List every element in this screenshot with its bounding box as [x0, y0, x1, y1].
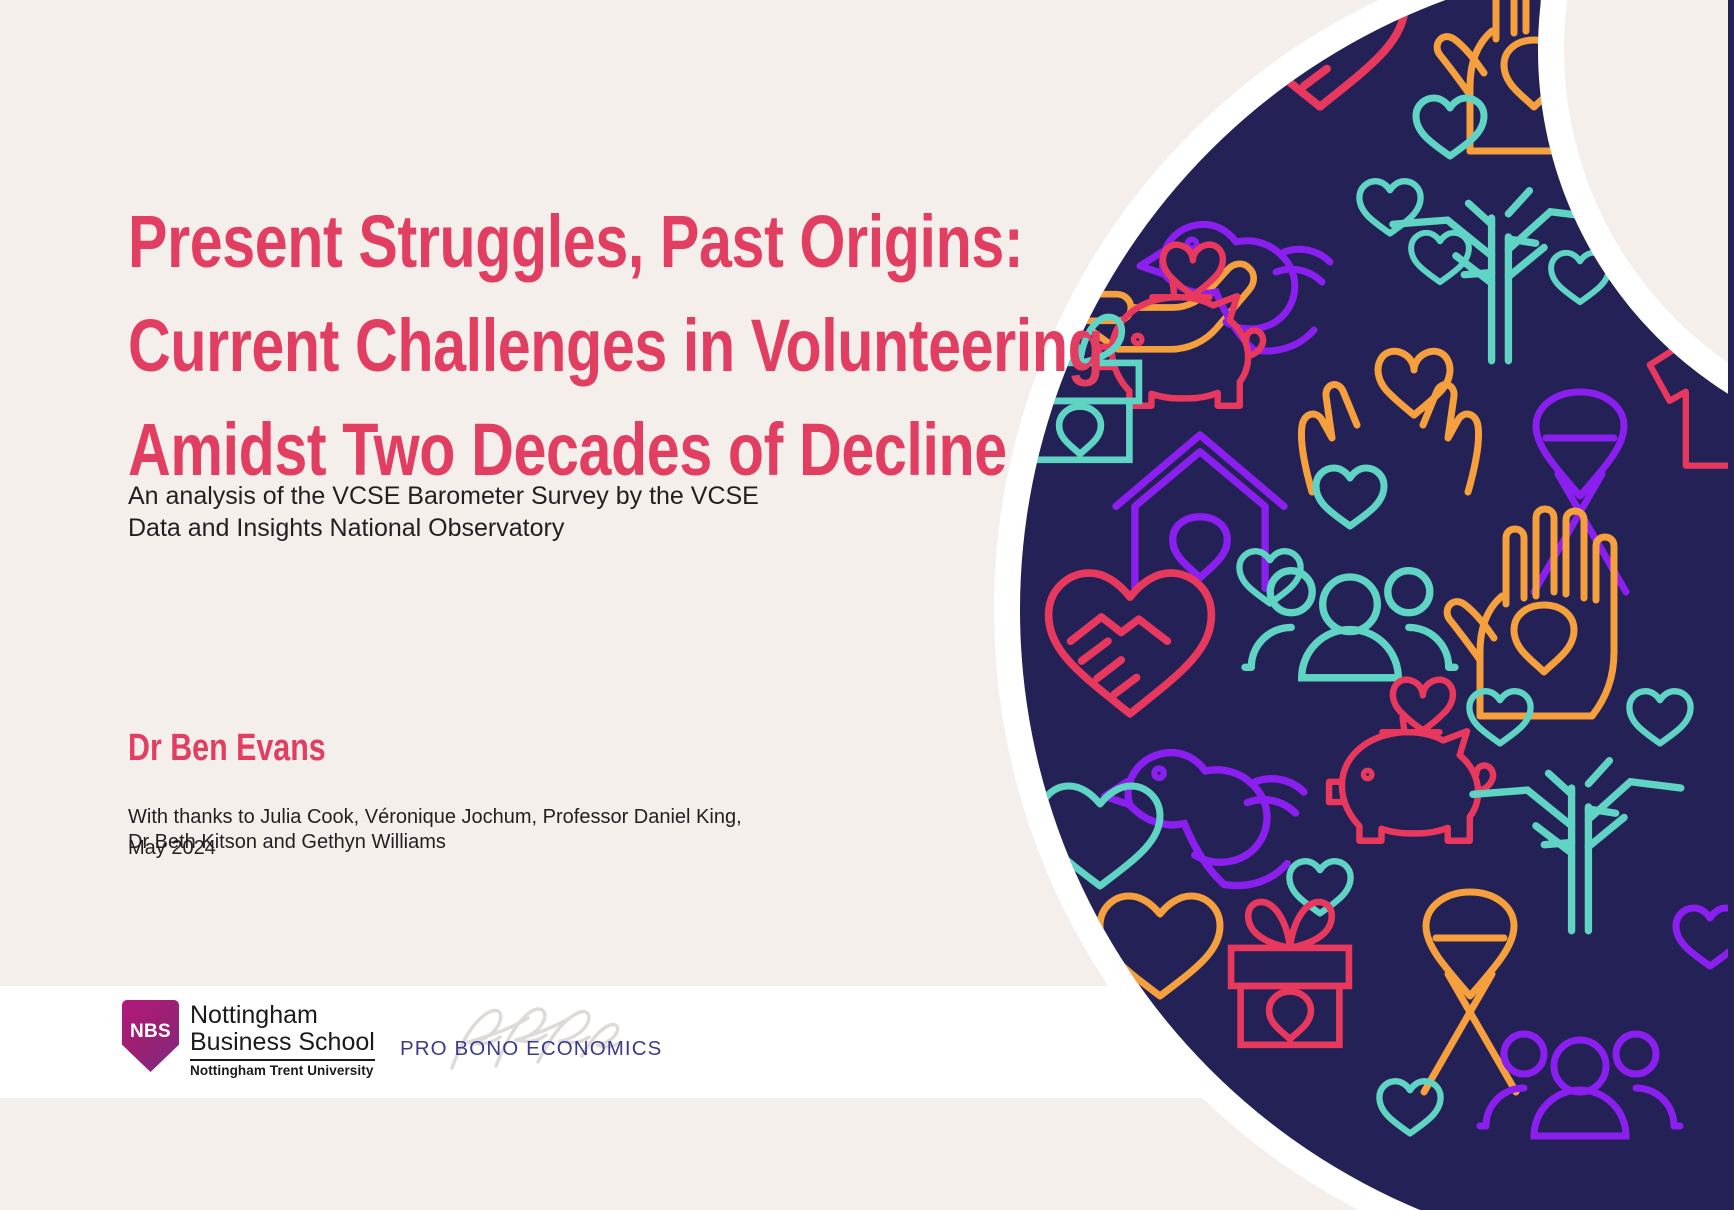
title-line-2: Current Challenges in Volunteering	[128, 294, 760, 398]
logo-row: NBS Nottingham Business School Nottingha…	[0, 986, 960, 1098]
nbs-wordmark: Nottingham Business School Nottingham Tr…	[190, 1000, 375, 1079]
acknowledgements: With thanks to Julia Cook, Véronique Joc…	[128, 805, 768, 855]
page-subtitle: An analysis of the VCSE Barometer Survey…	[128, 480, 768, 544]
pro-bono-economics-logo: PRO BONO ECONOMICS	[400, 1008, 640, 1070]
page-title: Present Struggles, Past Origins: Current…	[128, 190, 760, 502]
nbs-shield-label: NBS	[130, 1021, 171, 1043]
nbs-line-3: Nottingham Trent University	[190, 1063, 375, 1079]
slide-canvas: Present Struggles, Past Origins: Current…	[0, 0, 1734, 1210]
title-line-1: Present Struggles, Past Origins:	[128, 190, 760, 294]
publication-date: May 2024	[128, 836, 216, 861]
nbs-logo: NBS Nottingham Business School Nottingha…	[122, 1000, 375, 1079]
author-name: Dr Ben Evans	[128, 726, 326, 770]
nbs-line-2: Business School	[190, 1029, 375, 1056]
nbs-shield-icon: NBS	[122, 1000, 179, 1072]
nbs-divider	[190, 1059, 375, 1061]
nbs-line-1: Nottingham	[190, 1002, 375, 1029]
pbe-script-watermark-icon	[438, 996, 648, 1076]
pbe-wordmark: PRO BONO ECONOMICS	[400, 1037, 662, 1061]
right-edge-strip	[1728, 0, 1734, 1210]
